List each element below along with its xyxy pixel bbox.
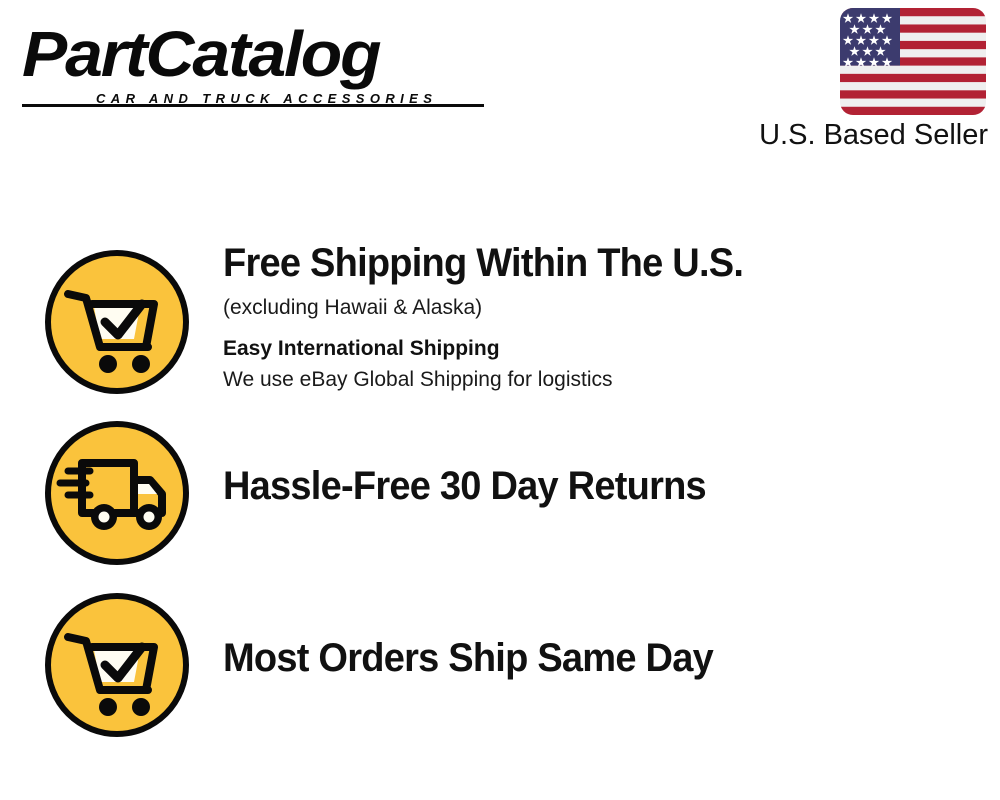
shopping-cart-check-icon [42,247,192,397]
page-header: PartCatalog CAR AND TRUCK ACCESSORIES [0,0,1000,170]
feature-text-block: Hassle-Free 30 Day Returns [223,462,983,510]
feature-heading: Hassle-Free 30 Day Returns [223,462,945,510]
us-based-seller-label: U.S. Based Seller [700,118,988,152]
feature-subheading: Easy International Shipping [223,335,983,363]
delivery-truck-icon [42,418,192,568]
us-flag-icon [840,8,986,115]
feature-row: Free Shipping Within The U.S. (excluding… [0,247,1000,397]
feature-text-block: Most Orders Ship Same Day [223,634,983,682]
feature-heading: Free Shipping Within The U.S. [223,239,945,287]
feature-subtext: We use eBay Global Shipping for logistic… [223,366,983,394]
brand-logo: PartCatalog CAR AND TRUCK ACCESSORIES [22,22,492,114]
feature-row: Most Orders Ship Same Day [0,590,1000,740]
brand-wordmark: PartCatalog [22,22,520,86]
feature-row: Hassle-Free 30 Day Returns [0,418,1000,568]
shopping-cart-check-icon [42,590,192,740]
logo-underline-rule [22,104,484,107]
feature-text-block: Free Shipping Within The U.S. (excluding… [223,239,983,394]
feature-heading: Most Orders Ship Same Day [223,634,945,682]
feature-note: (excluding Hawaii & Alaska) [223,293,983,323]
